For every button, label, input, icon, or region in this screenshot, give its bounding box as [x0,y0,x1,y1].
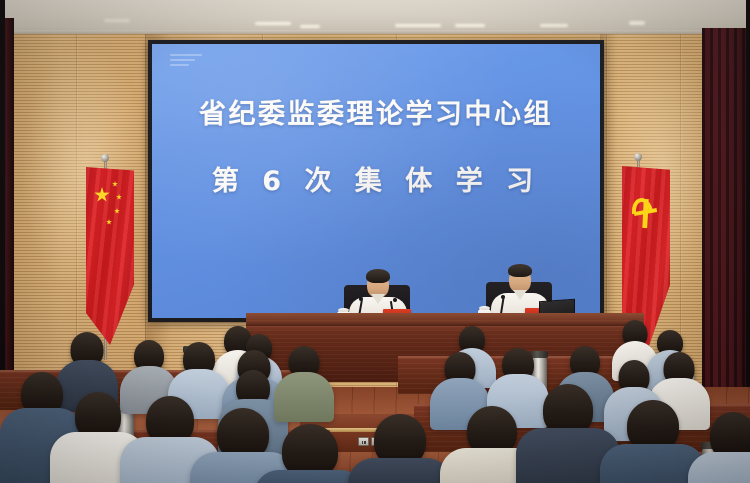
flag-star-small [116,194,122,200]
seated-speaker-right-hair [508,264,532,277]
screen-corner-marker-icon [170,54,202,66]
ceiling-light-reflection [255,22,291,25]
screen-title-line-2: 第 6 次 集 体 学 习 [152,159,600,198]
seated-speaker-right-collar [513,290,527,300]
screen-title-block: 省纪委监委理论学习中心组 第 6 次 集 体 学 习 [152,100,600,198]
audience-person [688,412,750,483]
audience-person [348,414,452,483]
microphone-head-left-b [393,298,397,302]
ceiling-light-reflection [104,19,130,22]
ceiling-light-reflection [395,24,441,27]
flag-star-small [114,208,120,214]
seated-speaker-left-hair [366,269,390,283]
conference-room-photo: 省纪委监委理论学习中心组 第 6 次 集 体 学 习 [0,0,750,483]
seated-speaker-left-collar [371,294,385,304]
flagpole-finial-right [634,153,642,161]
ceiling-light-reflection [540,24,568,27]
ceiling-light-reflection [629,21,645,25]
side-curtain-right [702,28,750,408]
flag-star-small [106,219,112,225]
hammer-handle-icon [642,199,648,228]
ceiling-light-reflection [300,25,320,28]
flag-star-small [112,181,118,187]
ceiling-light-reflection [455,24,485,27]
microphone-head-right [501,295,505,299]
hammer-and-sickle-emblem-icon [631,196,660,230]
microphone-head-left [359,297,363,301]
flagpole-finial-left [101,154,109,162]
screen-title-line-1: 省纪委监委理论学习中心组 [152,100,600,130]
flag-star-large [94,187,110,203]
